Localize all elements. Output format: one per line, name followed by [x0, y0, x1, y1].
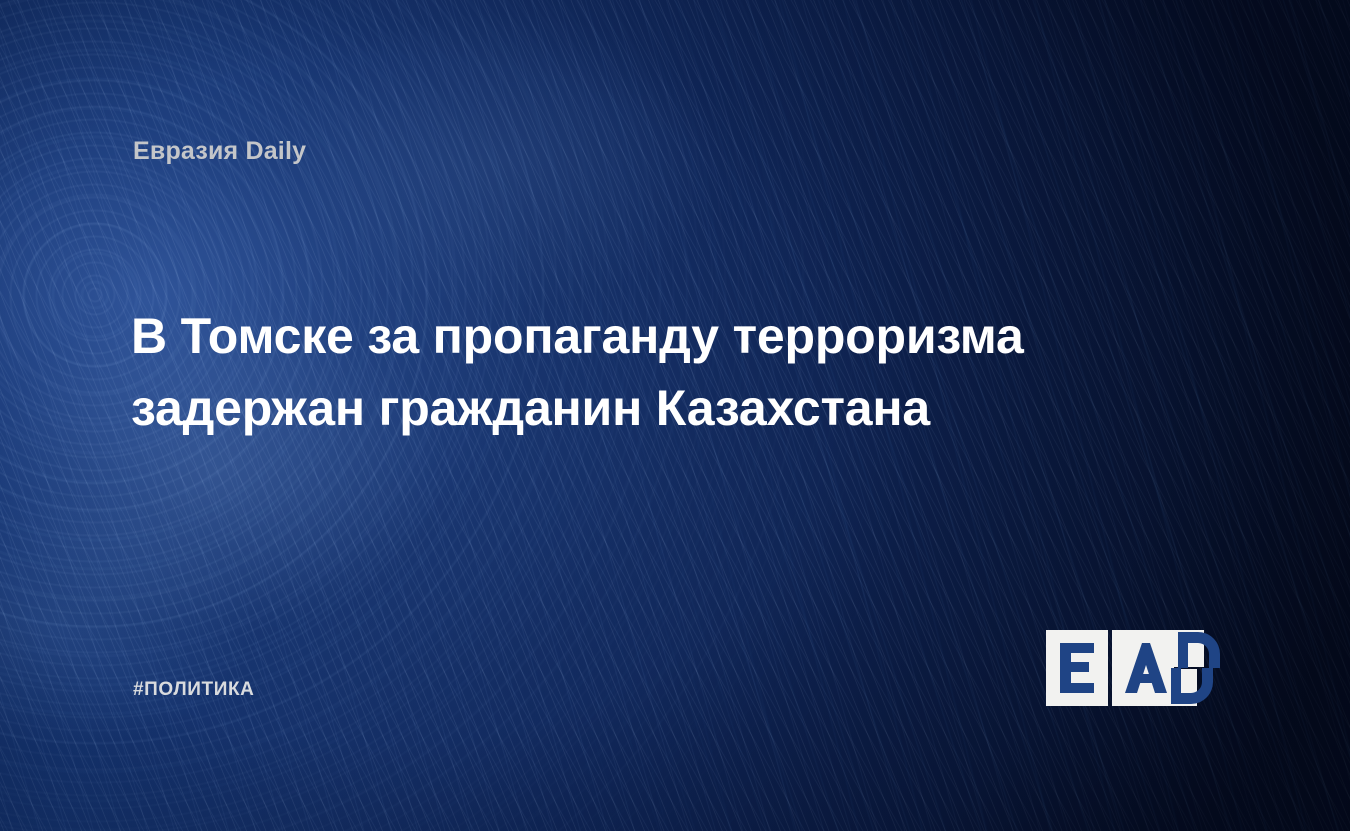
category-hashtag[interactable]: #ПОЛИТИКА: [133, 679, 255, 701]
headline-line-2: задержан гражданин Казахстана: [131, 372, 1151, 444]
headline: В Томске за пропаганду терроризма задерж…: [131, 300, 1151, 444]
logo-letter-e: [1060, 643, 1094, 693]
logo-letter-d: [1171, 632, 1220, 704]
article-share-card: Евразия Daily В Томске за пропаганду тер…: [0, 0, 1350, 831]
headline-line-1: В Томске за пропаганду терроризма: [131, 300, 1151, 372]
ead-logo: [1046, 626, 1226, 710]
brand-name: Евразия Daily: [133, 137, 306, 166]
